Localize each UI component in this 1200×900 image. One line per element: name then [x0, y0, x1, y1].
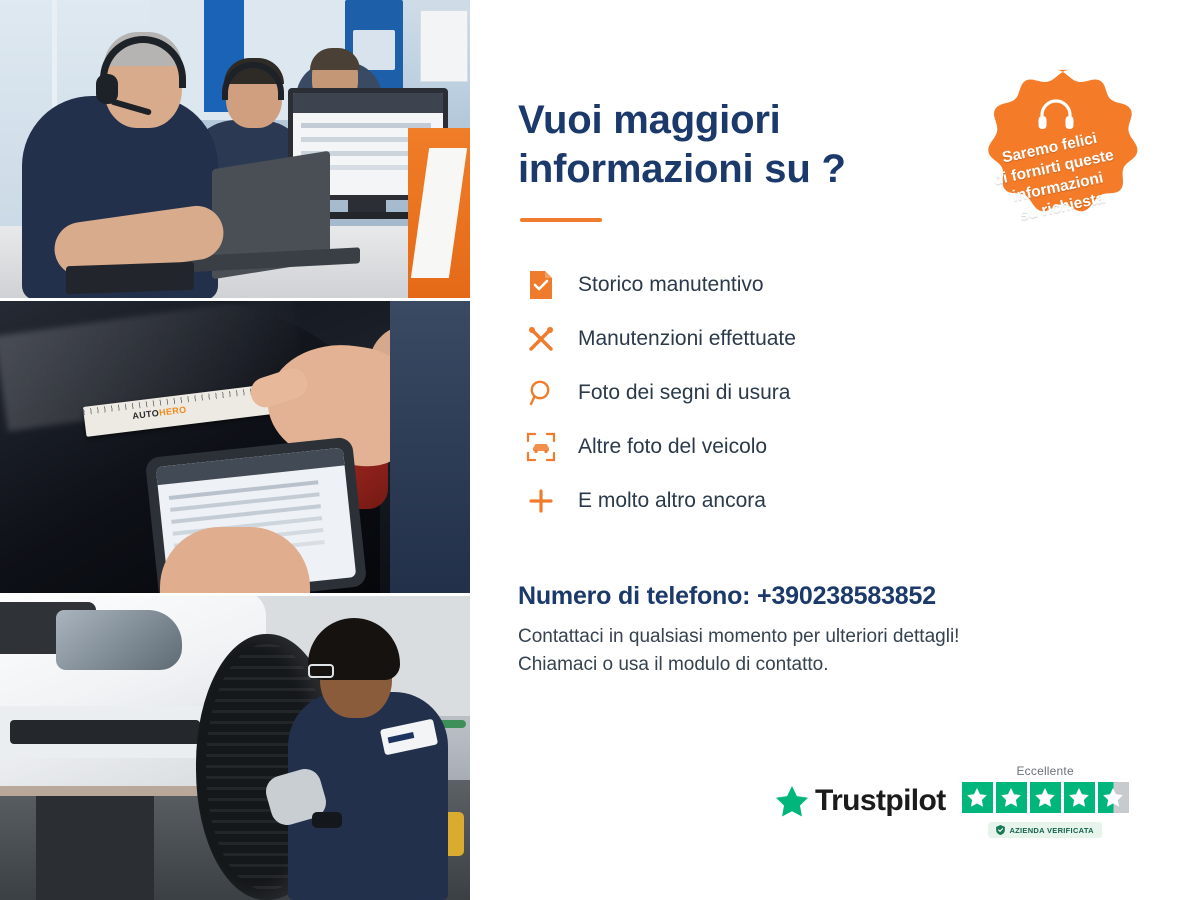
trustpilot-brand: Trustpilot: [815, 784, 946, 818]
promo-page: AUTOHERO: [0, 0, 1200, 900]
bumper-vent: [10, 720, 200, 744]
star-filled: [1030, 782, 1061, 813]
rating-label: Eccellente: [1016, 764, 1073, 778]
vehicle-inspection-ruler-photo: AUTOHERO: [0, 301, 470, 593]
star-filled: [962, 782, 993, 813]
star-filled: [996, 782, 1027, 813]
feature-item-foto-segni-usura: Foto dei segni di usura: [518, 366, 1200, 420]
headline-line-2: informazioni su ?: [518, 147, 846, 191]
monitor-base: [322, 212, 414, 219]
feature-item-manutenzioni-effettuate: Manutenzioni effettuate: [518, 312, 1200, 366]
heading-divider: [520, 218, 602, 222]
feature-label: Foto dei segni di usura: [578, 381, 790, 405]
trustpilot-logo: Trustpilot: [776, 784, 946, 818]
verified-label: AZIENDA VERIFICATA: [1009, 826, 1093, 835]
car-headlight: [56, 610, 182, 670]
feature-label: Storico manutentivo: [578, 273, 764, 297]
trustpilot-widget[interactable]: Trustpilot Eccellente: [776, 764, 1129, 838]
service-badge: Saremo felici di fornirti queste informa…: [958, 66, 1154, 272]
content-panel: Vuoi maggiori informazioni su ? Storico …: [476, 0, 1200, 900]
star-half: [1098, 782, 1129, 813]
phone-number[interactable]: Numero di telefono: +390238583852: [518, 582, 1200, 611]
trustpilot-rating: Eccellente: [962, 764, 1129, 838]
feature-list: Storico manutentivo Manutenzioni effettu…: [518, 258, 1200, 528]
magnifier-icon: [518, 379, 564, 407]
headline-line-1: Vuoi maggiori: [518, 98, 781, 142]
wrist-watch: [312, 812, 342, 828]
verified-badge: AZIENDA VERIFICATA: [988, 822, 1101, 838]
feature-label: E molto altro ancora: [578, 489, 766, 513]
feature-label: Altre foto del veicolo: [578, 435, 767, 459]
orange-divider-panel: [408, 128, 470, 298]
document-check-icon: [518, 270, 564, 300]
ruler-brand-part1: AUTO: [132, 408, 160, 421]
wall-notice: [420, 10, 468, 82]
starburst-shape: [958, 66, 1154, 272]
desk-tablet: [66, 262, 194, 294]
plus-icon: [518, 487, 564, 515]
background-person: [390, 301, 470, 593]
call-center-agents-photo: [0, 0, 470, 298]
trustpilot-star-icon: [776, 786, 808, 817]
shield-check-icon: [996, 825, 1005, 835]
tools-cross-icon: [518, 324, 564, 354]
star-filled: [1064, 782, 1095, 813]
contact-note-line-1: Contattaci in qualsiasi momento per ulte…: [518, 626, 959, 647]
star-rating: [962, 782, 1129, 813]
car-lift-post: [36, 796, 154, 900]
car-focus-frame-icon: [518, 432, 564, 462]
feature-label: Manutenzioni effettuate: [578, 327, 796, 351]
safety-glasses-icon: [308, 664, 334, 678]
page-title: Vuoi maggiori informazioni su ?: [518, 96, 938, 194]
feature-item-altre-foto-veicolo: Altre foto del veicolo: [518, 420, 1200, 474]
mechanic-wheel-photo: [0, 596, 470, 900]
ruler-brand-part2: HERO: [159, 404, 188, 417]
feature-item-molto-altro: E molto altro ancora: [518, 474, 1200, 528]
photo-column: AUTOHERO: [0, 0, 476, 900]
contact-block: Numero di telefono: +390238583852 Contat…: [518, 582, 1200, 681]
contact-note: Contattaci in qualsiasi momento per ulte…: [518, 623, 1118, 681]
contact-note-line-2: Chiamaci o usa il modulo di contatto.: [518, 654, 829, 675]
